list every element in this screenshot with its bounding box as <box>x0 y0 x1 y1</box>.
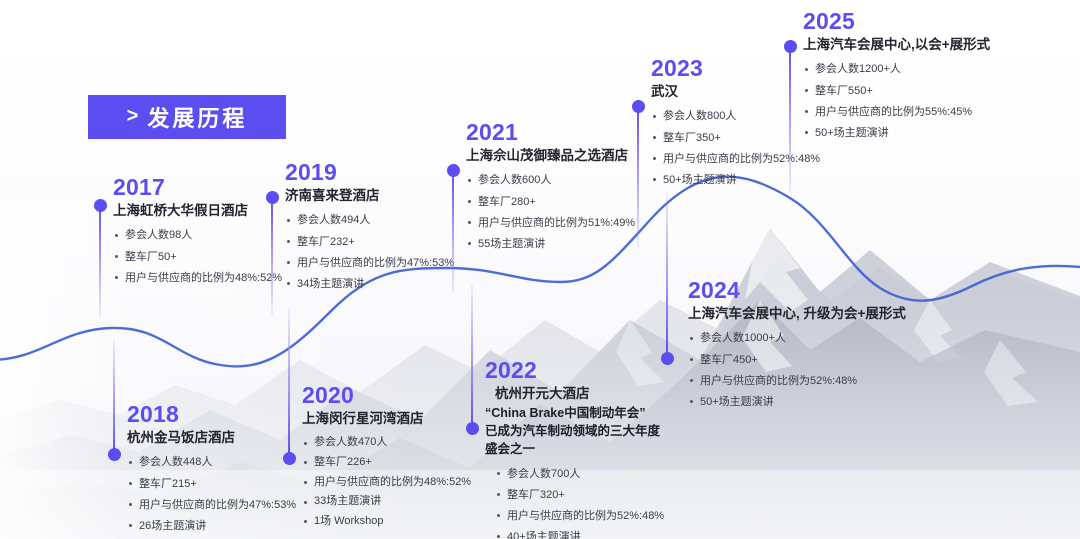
list-item: 用户与供应商的比例为52%:48% <box>688 371 906 392</box>
list-item: 整车厂226+ <box>302 453 471 473</box>
venue-label-2018: 杭州金马饭店酒店 <box>127 428 296 448</box>
list-item: 40+场主题演讲 <box>495 527 664 539</box>
list-item: 用户与供应商的比例为48%:52% <box>113 268 282 289</box>
year-label-2019: 2019 <box>285 160 454 185</box>
list-item: 用户与供应商的比例为51%:49% <box>466 213 635 234</box>
timeline-dot-2021[interactable] <box>447 164 460 177</box>
detail-list-2017: 参会人数98人 整车厂50+ 用户与供应商的比例为48%:52% <box>113 225 282 288</box>
year-label-2025: 2025 <box>803 9 990 34</box>
year-label-2020: 2020 <box>302 383 471 408</box>
venue-label-2025: 上海汽车会展中心,以会+展形式 <box>803 35 990 55</box>
timeline-dot-2022[interactable] <box>466 422 479 435</box>
detail-list-2019: 参会人数494人 整车厂232+ 用户与供应商的比例为47%:53% 34场主题… <box>285 210 454 294</box>
year-label-2021: 2021 <box>466 120 635 145</box>
list-item: 整车厂450+ <box>688 350 906 371</box>
year-label-2024: 2024 <box>688 278 906 303</box>
connector-line-2020 <box>288 308 290 458</box>
detail-list-2025: 参会人数1200+人 整车厂550+ 用户与供应商的比例为55%:45% 50+… <box>803 59 990 143</box>
year-label-2023: 2023 <box>651 56 820 81</box>
list-item: 参会人数494人 <box>285 210 454 231</box>
connector-line-2025 <box>789 44 791 192</box>
list-item: 整车厂215+ <box>127 474 296 495</box>
venue-label-2020: 上海闵行星河湾酒店 <box>302 409 471 429</box>
list-item: 整车厂550+ <box>803 81 990 102</box>
list-item: 26场主题演讲 <box>127 516 296 537</box>
list-item: 参会人数600人 <box>466 170 635 191</box>
list-item: 50+场主题演讲 <box>803 123 990 144</box>
list-item: 整车厂232+ <box>285 232 454 253</box>
connector-line-2022 <box>471 285 473 428</box>
timeline-dot-2018[interactable] <box>108 448 121 461</box>
list-item: 参会人数700人 <box>495 464 664 485</box>
connector-line-2018 <box>113 340 115 454</box>
timeline-dot-2024[interactable] <box>661 352 674 365</box>
list-item: 用户与供应商的比例为47%:53% <box>127 495 296 516</box>
detail-list-2023: 参会人数800人 整车厂350+ 用户与供应商的比例为52%:48% 50+场主… <box>651 106 820 190</box>
timeline-dot-2020[interactable] <box>283 452 296 465</box>
chevron-right-icon: > <box>127 106 139 126</box>
list-item: 参会人数98人 <box>113 225 282 246</box>
year-label-2018: 2018 <box>127 402 296 427</box>
detail-list-2024: 参会人数1000+人 整车厂450+ 用户与供应商的比例为52%:48% 50+… <box>688 328 906 412</box>
list-item: 34场主题演讲 <box>285 274 454 295</box>
list-item: 参会人数1000+人 <box>688 328 906 349</box>
section-banner-label: 发展历程 <box>147 101 247 133</box>
detail-list-2021: 参会人数600人 整车厂280+ 用户与供应商的比例为51%:49% 55场主题… <box>466 170 635 254</box>
list-item: 参会人数448人 <box>127 452 296 473</box>
list-item: 参会人数1200+人 <box>803 59 990 80</box>
list-item: 整车厂350+ <box>651 128 820 149</box>
venue-label-2021: 上海佘山茂御臻品之选酒店 <box>466 146 635 166</box>
list-item: 55场主题演讲 <box>466 234 635 255</box>
timeline-dot-2017[interactable] <box>94 199 107 212</box>
list-item: 整车厂280+ <box>466 192 635 213</box>
venue-label-2017: 上海虹桥大华假日酒店 <box>113 201 282 221</box>
venue-label-2019: 济南喜来登酒店 <box>285 186 454 206</box>
list-item: 用户与供应商的比例为52%:48% <box>651 149 820 170</box>
timeline-dot-2019[interactable] <box>266 191 279 204</box>
year-label-2022: 2022 <box>485 358 664 383</box>
list-item: 用户与供应商的比例为48%:52% <box>302 473 471 493</box>
list-item: 参会人数800人 <box>651 106 820 127</box>
venue-label-2024: 上海汽车会展中心, 升级为会+展形式 <box>688 304 906 324</box>
list-item: 用户与供应商的比例为52%:48% <box>495 506 664 527</box>
connector-line-2017 <box>99 203 101 318</box>
detail-list-2018: 参会人数448人 整车厂215+ 用户与供应商的比例为47%:53% 26场主题… <box>127 452 296 536</box>
timeline-infographic: > 发展历程 2017 上海虹桥大华假日酒店 参会人数98人 整车厂50+ 用户… <box>0 0 1080 539</box>
section-banner: > 发展历程 <box>88 95 286 139</box>
connector-line-2019 <box>271 195 273 315</box>
detail-list-2020: 参会人数470人 整车厂226+ 用户与供应商的比例为48%:52% 33场主题… <box>302 433 471 531</box>
list-item: 整车厂320+ <box>495 485 664 506</box>
highlight-label-2022: “China Brake中国制动年会” 已成为汽车制动领域的三大年度盛会之一 <box>485 405 664 458</box>
connector-line-2024 <box>666 192 668 358</box>
list-item: 整车厂50+ <box>113 247 282 268</box>
list-item: 50+场主题演讲 <box>688 392 906 413</box>
venue-label-2022: 杭州开元大酒店 <box>495 384 664 404</box>
timeline-dot-2025[interactable] <box>784 40 797 53</box>
connector-line-2021 <box>452 168 454 293</box>
list-item: 用户与供应商的比例为55%:45% <box>803 102 990 123</box>
list-item: 用户与供应商的比例为47%:53% <box>285 253 454 274</box>
detail-list-2022: 参会人数700人 整车厂320+ 用户与供应商的比例为52%:48% 40+场主… <box>495 464 664 539</box>
timeline-dot-2023[interactable] <box>632 100 645 113</box>
connector-line-2023 <box>637 104 639 249</box>
list-item: 1场 Workshop <box>302 512 471 532</box>
list-item: 50+场主题演讲 <box>651 170 820 191</box>
list-item: 参会人数470人 <box>302 433 471 453</box>
venue-label-2023: 武汉 <box>651 82 820 102</box>
list-item: 33场主题演讲 <box>302 492 471 512</box>
year-label-2017: 2017 <box>113 175 282 200</box>
